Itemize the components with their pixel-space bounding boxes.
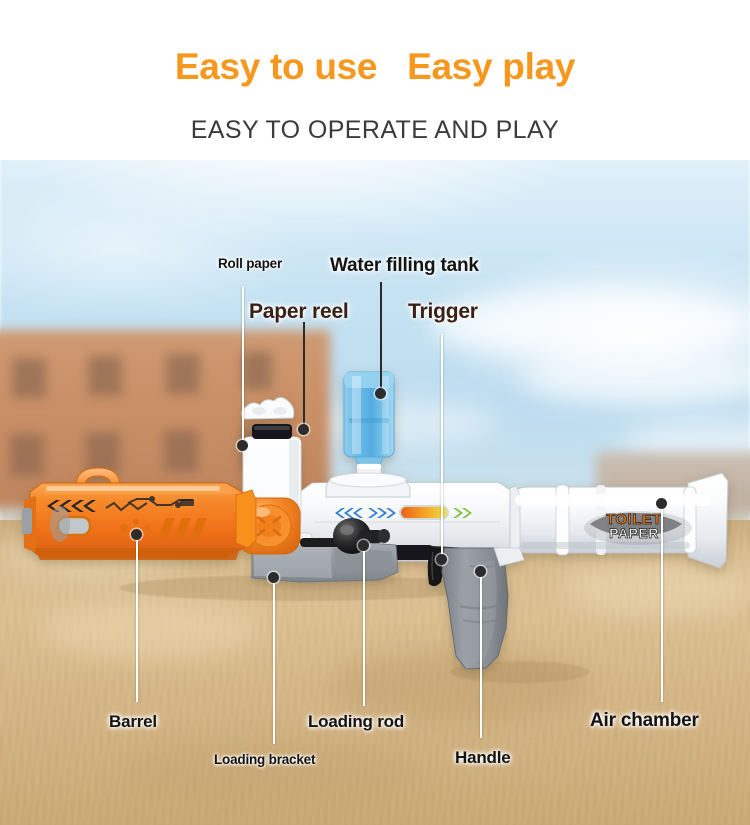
leader-line-trigger bbox=[441, 334, 443, 560]
leader-line-barrel bbox=[136, 534, 138, 702]
leader-line-loading-rod bbox=[363, 546, 365, 706]
air-chamber-part: TOILET PAPER bbox=[500, 473, 728, 568]
leader-line-paper-reel bbox=[303, 322, 305, 430]
leader-dot-air-chamber bbox=[656, 498, 667, 509]
callout-label-trigger: Trigger bbox=[408, 300, 478, 324]
leader-dot-barrel bbox=[131, 529, 142, 540]
callout-label-loading-rod: Loading rod bbox=[308, 712, 404, 732]
leader-dot-paper-reel bbox=[298, 424, 309, 435]
tank-seat bbox=[326, 473, 410, 497]
leader-dot-loading-rod bbox=[358, 540, 369, 551]
callout-label-handle: Handle bbox=[455, 748, 510, 768]
leader-dot-trigger bbox=[436, 554, 447, 565]
callout-label-paper-reel: Paper reel bbox=[249, 300, 349, 324]
brand-decal: TOILET PAPER bbox=[584, 511, 692, 545]
leader-dot-water-tank bbox=[375, 388, 386, 399]
callout-label-water-filling-tank: Water filling tank bbox=[330, 255, 479, 277]
leader-dot-roll-paper bbox=[237, 440, 248, 451]
page-headline: Easy to use Easy play bbox=[0, 46, 750, 88]
svg-text:PAPER: PAPER bbox=[609, 525, 659, 541]
callout-label-loading-bracket: Loading bracket bbox=[214, 752, 315, 767]
barrel-part bbox=[22, 468, 244, 560]
water-tank-part bbox=[344, 372, 394, 481]
leader-line-handle bbox=[480, 572, 482, 738]
leader-line-roll-paper bbox=[242, 286, 244, 446]
leader-line-water-tank bbox=[380, 282, 382, 392]
callout-label-air-chamber: Air chamber bbox=[590, 710, 699, 732]
callout-label-roll-paper: Roll paper bbox=[218, 256, 282, 271]
leader-line-loading-bracket bbox=[273, 578, 275, 744]
leader-dot-loading-bracket bbox=[268, 572, 279, 583]
leader-line-air-chamber bbox=[661, 504, 663, 702]
callout-label-barrel: Barrel bbox=[109, 712, 157, 732]
header-band: Easy to use Easy play EASY TO OPERATE AN… bbox=[0, 0, 750, 160]
page-subheadline: EASY TO OPERATE AND PLAY bbox=[0, 116, 750, 145]
product-infographic: TOILET PAPER bbox=[0, 0, 750, 825]
leader-dot-handle bbox=[475, 566, 486, 577]
